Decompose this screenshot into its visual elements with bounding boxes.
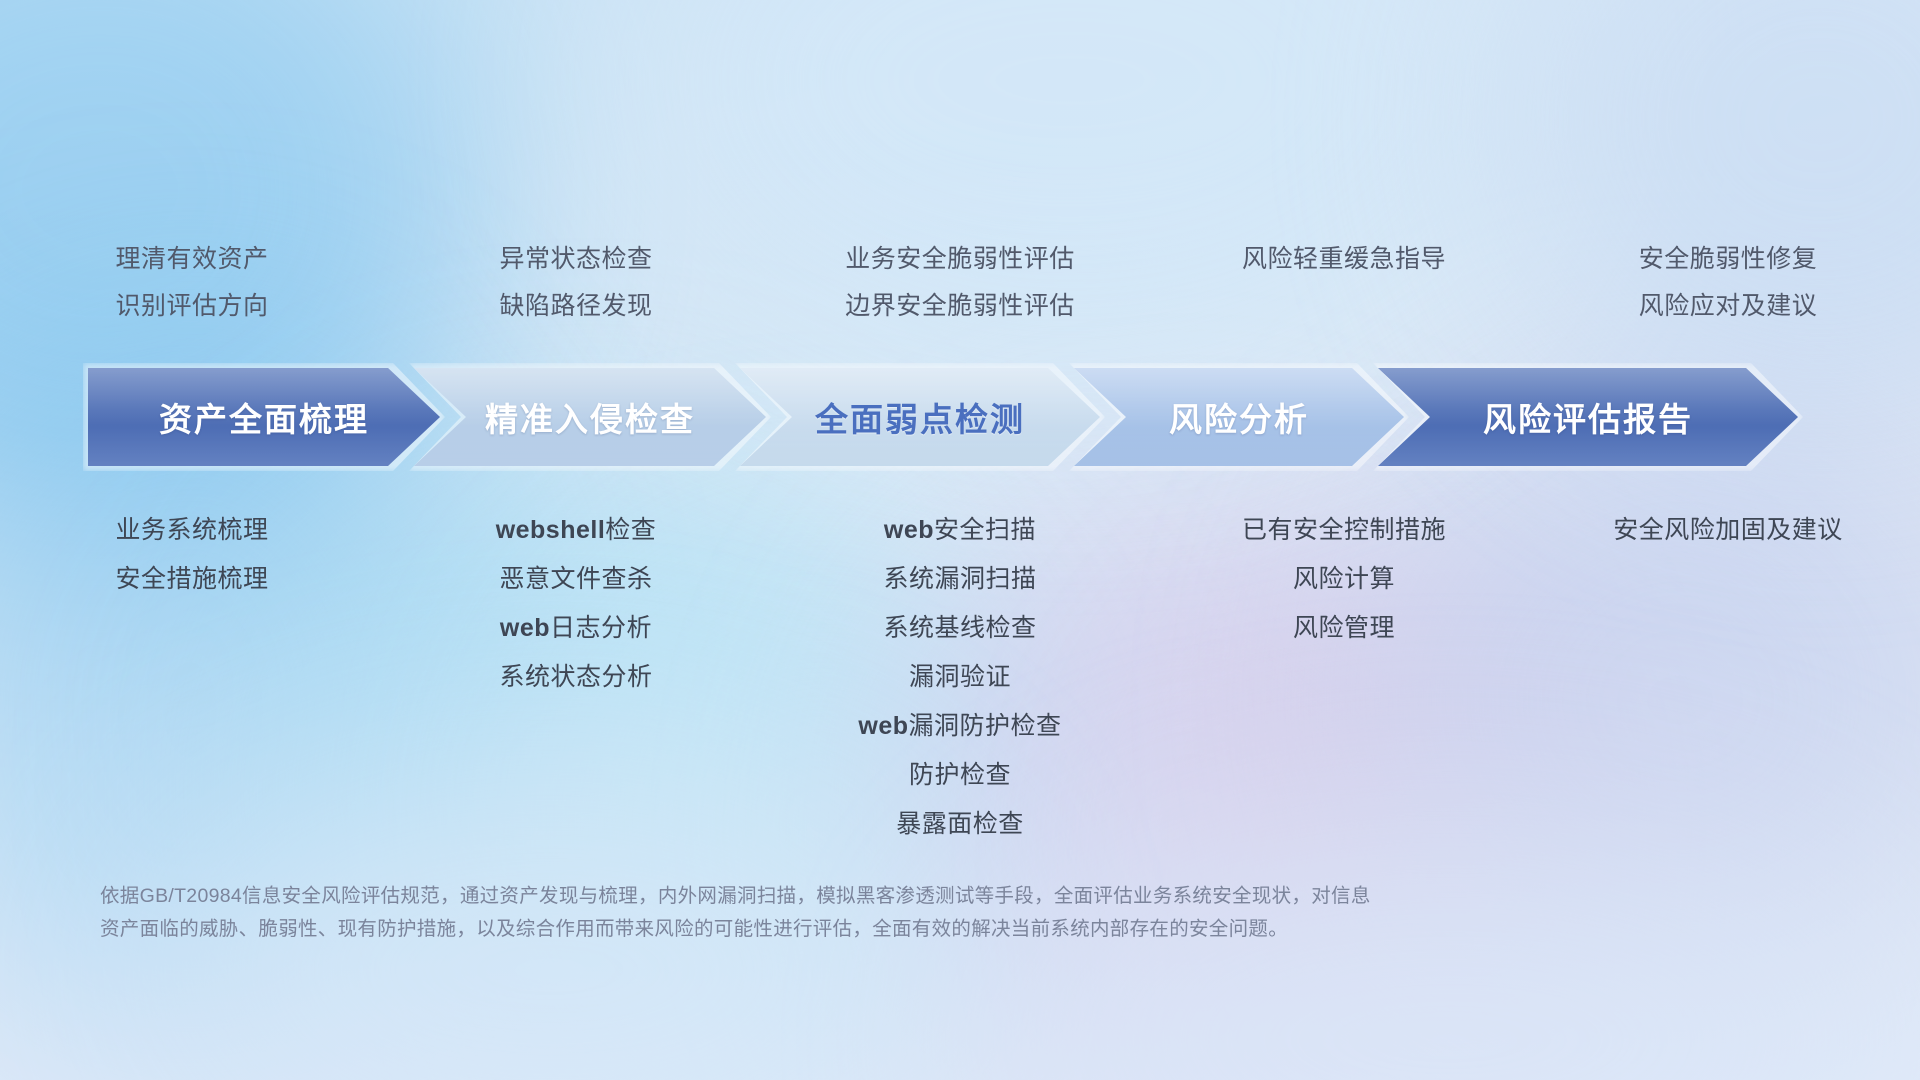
process-stage-risk-analysis[interactable]: 风险分析 xyxy=(1074,368,1404,466)
footer-line-2: 资产面临的威胁、脆弱性、现有防护措施，以及综合作用而带来风险的可能性进行评估，全… xyxy=(100,913,1660,946)
activity-item: 安全措施梳理 xyxy=(0,555,384,604)
activity-item: 漏洞验证 xyxy=(768,653,1152,702)
outcome-item: 异常状态检查 xyxy=(384,236,768,283)
activity-item: 系统状态分析 xyxy=(384,653,768,702)
outcome-item: 业务安全脆弱性评估 xyxy=(768,236,1152,283)
activity-column: webshell检查恶意文件查杀web日志分析系统状态分析 xyxy=(384,506,768,702)
activity-item: 业务系统梳理 xyxy=(0,506,384,555)
activity-item: 防护检查 xyxy=(768,751,1152,800)
outcome-column: 安全脆弱性修复风险应对及建议 xyxy=(1536,236,1920,330)
activity-item: 安全风险加固及建议 xyxy=(1536,506,1920,555)
footer-line-1: 依据GB/T20984信息安全风险评估规范，通过资产发现与梳理，内外网漏洞扫描，… xyxy=(100,880,1660,913)
process-stage-weakness-detection[interactable]: 全面弱点检测 xyxy=(740,368,1100,466)
activity-item: web日志分析 xyxy=(384,604,768,653)
activity-item: webshell检查 xyxy=(384,506,768,555)
activity-column: 已有安全控制措施风险计算风险管理 xyxy=(1152,506,1536,653)
process-diagram: 理清有效资产识别评估方向异常状态检查缺陷路径发现业务安全脆弱性评估边界安全脆弱性… xyxy=(0,0,1920,1080)
activity-column: 安全风险加固及建议 xyxy=(1536,506,1920,555)
activity-item: 系统漏洞扫描 xyxy=(768,555,1152,604)
footer-description: 依据GB/T20984信息安全风险评估规范，通过资产发现与梳理，内外网漏洞扫描，… xyxy=(100,880,1660,946)
process-stage-intrusion-check[interactable]: 精准入侵检查 xyxy=(414,368,766,466)
process-stage-asset-inventory[interactable]: 资产全面梳理 xyxy=(88,368,440,466)
process-stage-label: 风险评估报告 xyxy=(1483,393,1693,441)
activity-item: web安全扫描 xyxy=(768,506,1152,555)
process-stage-label: 全面弱点检测 xyxy=(815,393,1025,441)
outcome-column: 异常状态检查缺陷路径发现 xyxy=(384,236,768,330)
process-stage-label: 风险分析 xyxy=(1169,393,1309,441)
process-stage-label: 资产全面梳理 xyxy=(159,393,369,441)
process-stage-label: 精准入侵检查 xyxy=(485,393,695,441)
outcome-item: 风险应对及建议 xyxy=(1536,283,1920,330)
activity-item: 风险管理 xyxy=(1152,604,1536,653)
activity-item: 风险计算 xyxy=(1152,555,1536,604)
outcome-column: 理清有效资产识别评估方向 xyxy=(0,236,384,330)
outcome-item: 缺陷路径发现 xyxy=(384,283,768,330)
activities-row: 业务系统梳理安全措施梳理webshell检查恶意文件查杀web日志分析系统状态分… xyxy=(0,506,1920,849)
activity-item: 暴露面检查 xyxy=(768,800,1152,849)
outcomes-row: 理清有效资产识别评估方向异常状态检查缺陷路径发现业务安全脆弱性评估边界安全脆弱性… xyxy=(0,236,1920,330)
outcome-item: 识别评估方向 xyxy=(0,283,384,330)
outcome-item: 安全脆弱性修复 xyxy=(1536,236,1920,283)
activity-column: 业务系统梳理安全措施梳理 xyxy=(0,506,384,604)
outcome-item: 风险轻重缓急指导 xyxy=(1152,236,1536,283)
activity-item: 恶意文件查杀 xyxy=(384,555,768,604)
activity-item: 系统基线检查 xyxy=(768,604,1152,653)
outcome-item: 边界安全脆弱性评估 xyxy=(768,283,1152,330)
outcome-item: 理清有效资产 xyxy=(0,236,384,283)
outcome-column: 风险轻重缓急指导 xyxy=(1152,236,1536,330)
process-stage-risk-report[interactable]: 风险评估报告 xyxy=(1378,368,1798,466)
outcome-column: 业务安全脆弱性评估边界安全脆弱性评估 xyxy=(768,236,1152,330)
process-chevron-band: 资产全面梳理精准入侵检查全面弱点检测风险分析风险评估报告 xyxy=(88,368,1848,466)
activity-column: web安全扫描系统漏洞扫描系统基线检查漏洞验证web漏洞防护检查防护检查暴露面检… xyxy=(768,506,1152,849)
activity-item: 已有安全控制措施 xyxy=(1152,506,1536,555)
activity-item: web漏洞防护检查 xyxy=(768,702,1152,751)
